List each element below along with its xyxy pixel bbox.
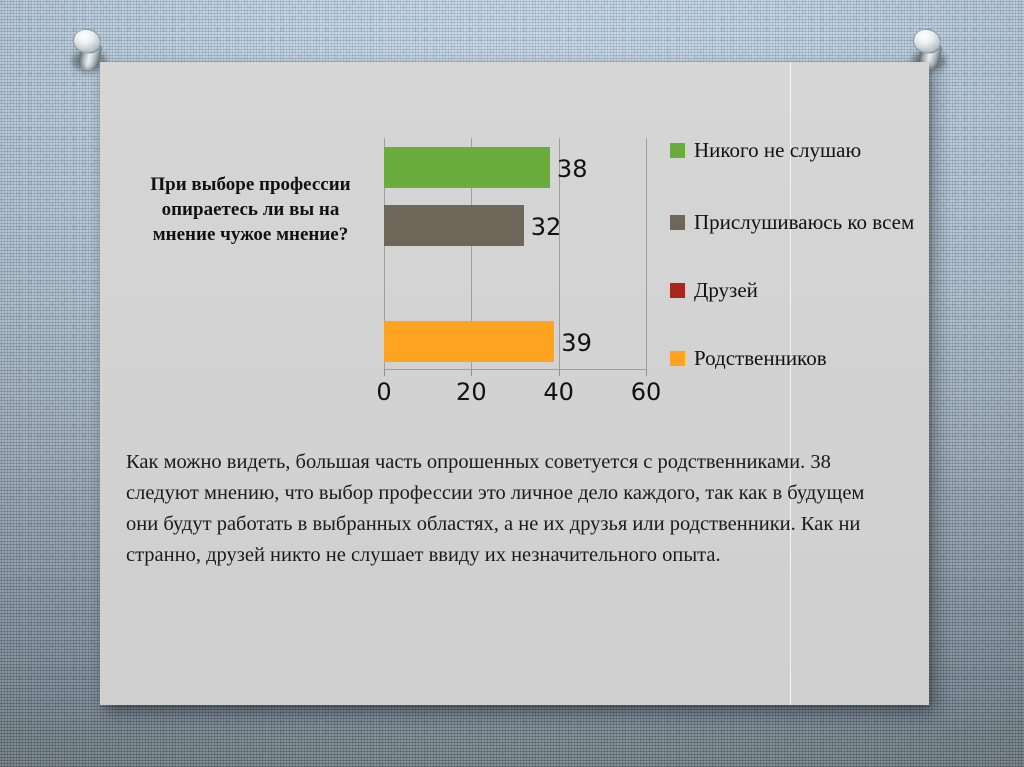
chart-bar-value-label: 32 xyxy=(531,213,562,241)
chart-plot-area: 0204060383239 xyxy=(384,138,646,370)
chart-x-tick-label: 20 xyxy=(456,378,487,406)
legend-swatch-icon xyxy=(670,143,685,158)
legend-item-label: Прислушиваюсь ко всем xyxy=(694,208,914,236)
chart-x-tick-label: 60 xyxy=(631,378,662,406)
chart-bar xyxy=(384,147,550,188)
chart-bar xyxy=(384,205,524,246)
chart-bar xyxy=(384,321,554,362)
chart-title: При выборе профессии опираетесь ли вы на… xyxy=(128,172,373,247)
chart-axis-tick xyxy=(384,370,385,376)
legend-swatch-icon xyxy=(670,283,685,298)
chart-gridline xyxy=(646,138,647,370)
legend-item[interactable]: Родственников xyxy=(670,344,920,372)
slide-body-text: Как можно видеть, большая часть опрошенн… xyxy=(126,447,901,571)
legend-item-label: Друзей xyxy=(694,276,758,304)
pushpin-head xyxy=(911,26,944,56)
slide-backdrop: При выборе профессии опираетесь ли вы на… xyxy=(0,0,1024,767)
legend-item-label: Родственников xyxy=(694,344,827,372)
chart-axis-tick xyxy=(646,370,647,376)
chart-axis-tick xyxy=(471,370,472,376)
chart-axis-tick xyxy=(559,370,560,376)
chart-axis-baseline xyxy=(384,369,646,370)
chart-x-tick-label: 0 xyxy=(376,378,391,406)
slide-card: При выборе профессии опираетесь ли вы на… xyxy=(100,62,929,705)
pushpin-head xyxy=(71,26,104,56)
legend-item-label: Никого не слушаю xyxy=(694,136,861,164)
legend-item[interactable]: Прислушиваюсь ко всем xyxy=(670,208,920,236)
bar-chart: При выборе профессии опираетесь ли вы на… xyxy=(100,122,929,452)
chart-bar-value-label: 39 xyxy=(561,329,592,357)
legend-item[interactable]: Друзей xyxy=(670,276,920,304)
chart-x-tick-label: 40 xyxy=(543,378,574,406)
legend-swatch-icon xyxy=(670,351,685,366)
legend-swatch-icon xyxy=(670,215,685,230)
chart-bar-value-label: 38 xyxy=(557,155,588,183)
legend-item[interactable]: Никого не слушаю xyxy=(670,136,920,164)
